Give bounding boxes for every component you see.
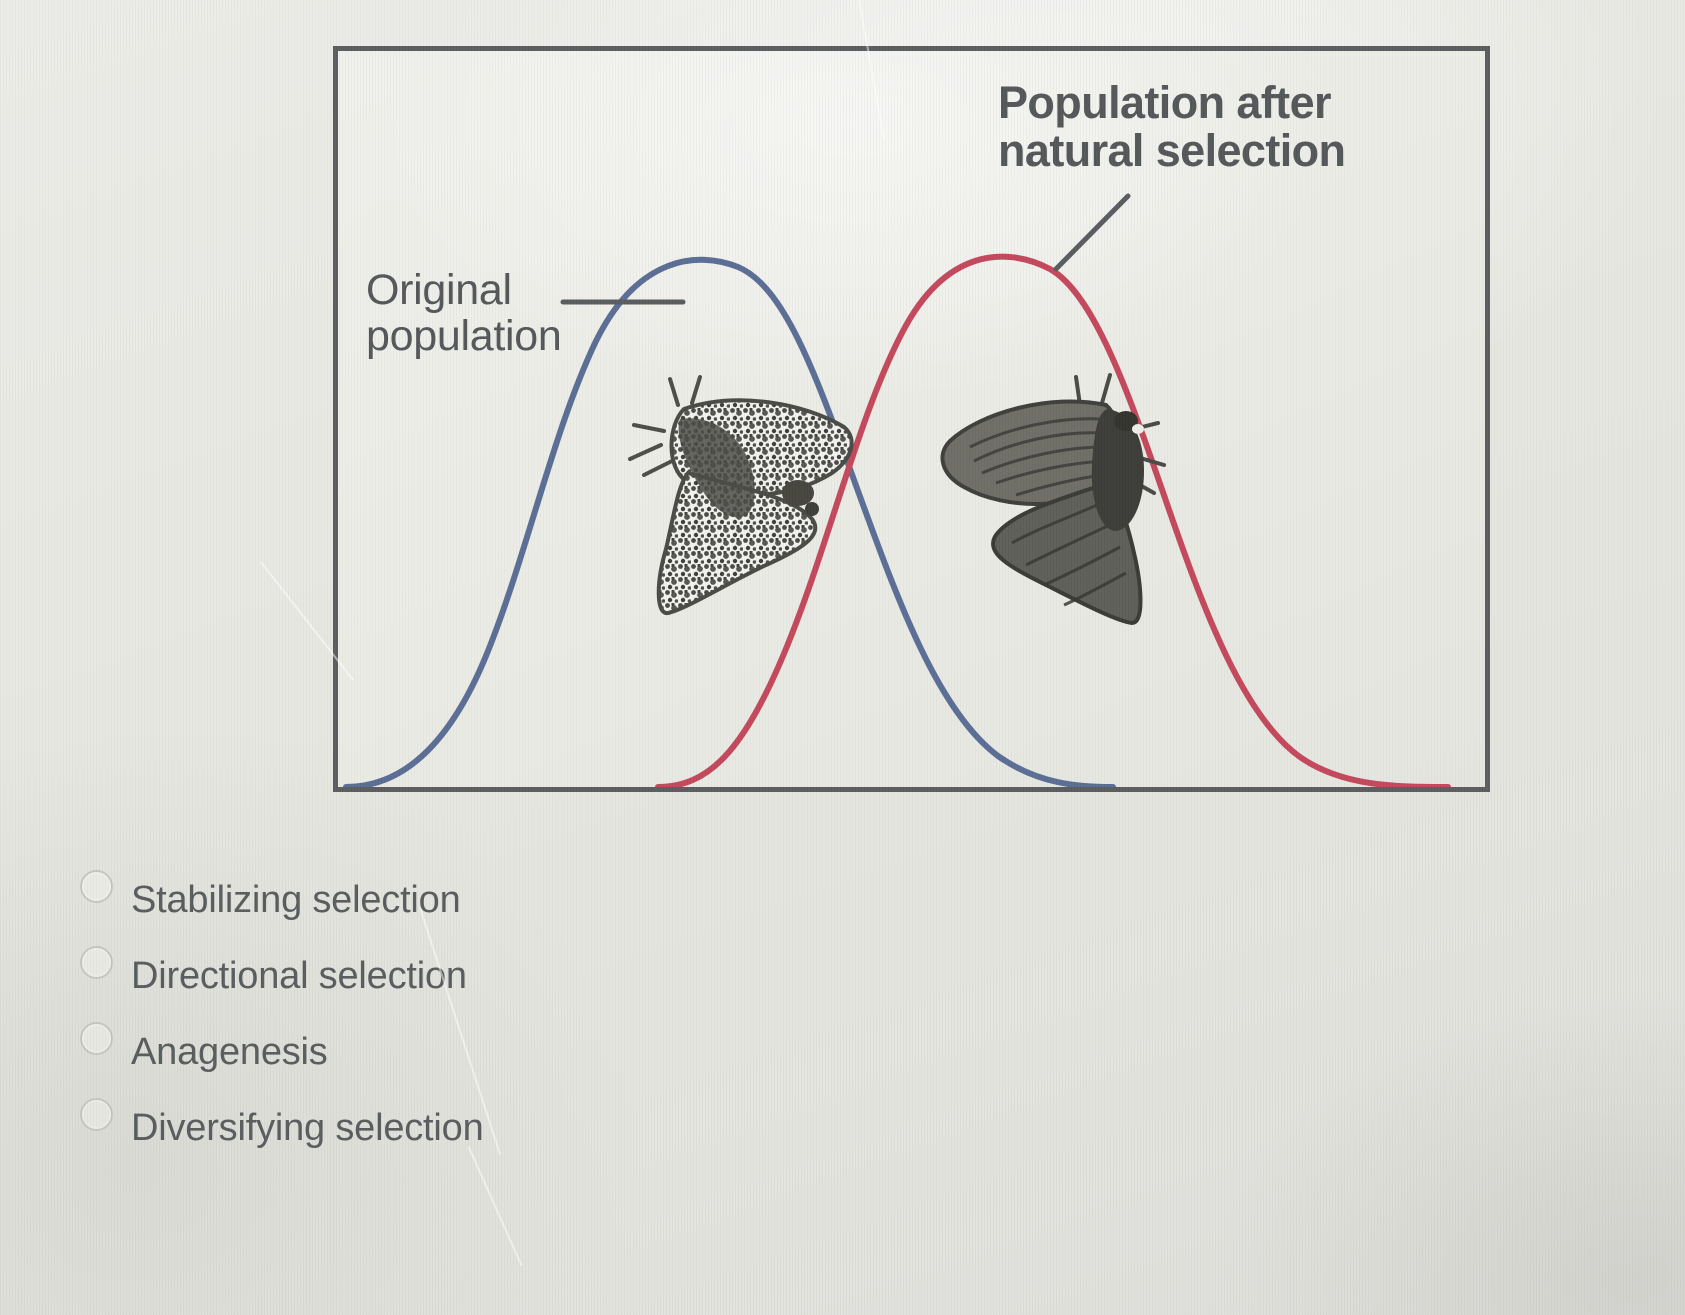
option-directional-selection[interactable]: Directional selection	[80, 938, 840, 1014]
radio-button-icon[interactable]	[80, 1098, 113, 1131]
light-peppered-moth-icon	[626, 369, 871, 619]
option-anagenesis[interactable]: Anagenesis	[80, 1014, 840, 1090]
radio-button-icon[interactable]	[80, 946, 113, 979]
option-label: Directional selection	[131, 955, 467, 998]
option-label: Anagenesis	[131, 1031, 328, 1074]
option-label: Diversifying selection	[131, 1107, 484, 1150]
option-label: Stabilizing selection	[131, 879, 461, 922]
after-label-leader-line	[1056, 196, 1128, 269]
original-population-label: Original population	[366, 268, 561, 359]
option-stabilizing-selection[interactable]: Stabilizing selection	[80, 862, 840, 938]
population-after-selection-label: Population after natural selection	[998, 79, 1345, 174]
radio-button-icon[interactable]	[80, 870, 113, 903]
natural-selection-figure: Original population Population after nat…	[333, 46, 1490, 792]
option-diversifying-selection[interactable]: Diversifying selection	[80, 1090, 840, 1166]
radio-button-icon[interactable]	[80, 1022, 113, 1055]
dark-melanic-moth-icon	[930, 369, 1175, 631]
answer-options-list: Stabilizing selection Directional select…	[80, 862, 840, 1166]
